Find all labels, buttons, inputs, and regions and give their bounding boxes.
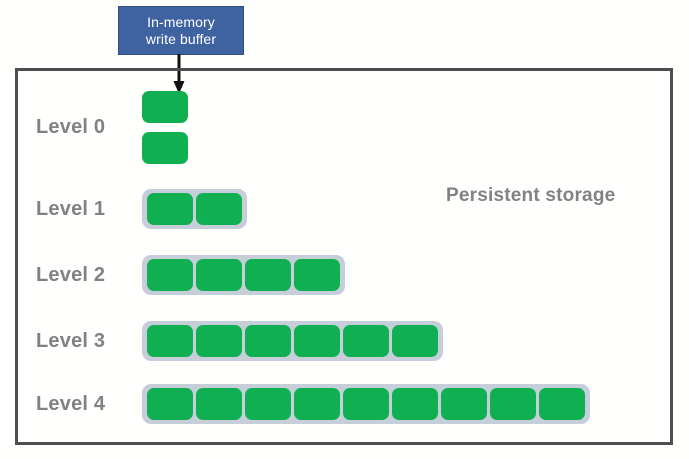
level-label-2: Level 2 [36, 264, 142, 287]
level-label-3: Level 3 [36, 330, 142, 353]
sstable-block [441, 388, 487, 420]
level-label-0: Level 0 [36, 116, 142, 139]
sstable-block [343, 325, 389, 357]
buffer-label-line-1: In-memory [147, 14, 215, 31]
sstable-block [142, 91, 188, 123]
level-label-1: Level 1 [36, 198, 142, 221]
sstable-block [539, 388, 585, 420]
level-1-tray [142, 189, 247, 229]
sstable-block [294, 259, 340, 291]
buffer-label-line-2: write buffer [146, 31, 216, 48]
sstable-block [196, 259, 242, 291]
sstable-block [245, 325, 291, 357]
level-2-tray [142, 255, 345, 295]
level-row-3: Level 3 [36, 318, 443, 364]
level-row-0: Level 0 [36, 86, 188, 168]
level-3-tray [142, 321, 443, 361]
level-label-4: Level 4 [36, 393, 142, 416]
sstable-block [294, 325, 340, 357]
lsm-tree-diagram: In-memory write buffer Persistent storag… [0, 0, 689, 459]
sstable-block [343, 388, 389, 420]
level-row-4: Level 4 [36, 381, 590, 427]
sstable-block [245, 388, 291, 420]
in-memory-write-buffer-box: In-memory write buffer [118, 6, 244, 55]
level-4-tray [142, 384, 590, 424]
sstable-block [147, 325, 193, 357]
sstable-block [294, 388, 340, 420]
level-row-1: Level 1 [36, 186, 247, 232]
sstable-block [392, 388, 438, 420]
sstable-block [196, 193, 242, 225]
sstable-block [196, 388, 242, 420]
persistent-storage-caption: Persistent storage [446, 185, 615, 207]
sstable-block [147, 388, 193, 420]
level-row-2: Level 2 [36, 252, 345, 298]
sstable-block [392, 325, 438, 357]
level-0-block-stack [142, 91, 188, 164]
sstable-block [196, 325, 242, 357]
sstable-block [147, 259, 193, 291]
sstable-block [490, 388, 536, 420]
sstable-block [147, 193, 193, 225]
sstable-block [142, 132, 188, 164]
sstable-block [245, 259, 291, 291]
